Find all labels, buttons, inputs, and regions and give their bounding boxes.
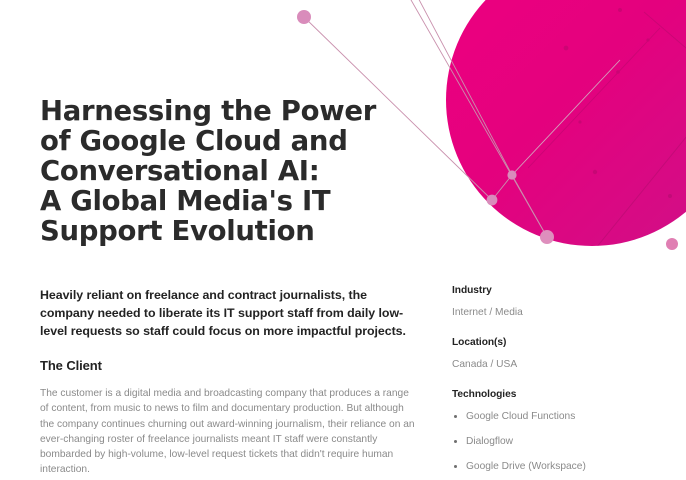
page-title: Harnessing the Power of Google Cloud and…: [40, 96, 440, 246]
node-dot-bottom: [540, 230, 554, 244]
meta-block-locations: Location(s) Canada / USA: [452, 336, 686, 372]
technologies-label: Technologies: [452, 388, 686, 401]
list-item: Dialogflow: [452, 435, 686, 448]
industry-label: Industry: [452, 284, 686, 297]
main-column: Heavily reliant on freelance and contrac…: [0, 272, 418, 478]
lede-paragraph: Heavily reliant on freelance and contrac…: [40, 286, 418, 340]
technology-label: Google Drive (Workspace): [466, 461, 586, 472]
bullet-icon: [454, 440, 457, 443]
node-dot-top-left: [297, 10, 311, 24]
locations-label: Location(s): [452, 336, 686, 349]
technology-label: Google Cloud Functions: [466, 411, 575, 422]
hero-banner: Harnessing the Power of Google Cloud and…: [0, 0, 686, 272]
bullet-icon: [454, 415, 457, 418]
meta-block-industry: Industry Internet / Media: [452, 284, 686, 320]
locations-value: Canada / USA: [452, 358, 686, 372]
list-item: Google Cloud Functions: [452, 410, 686, 423]
content-area: Heavily reliant on freelance and contrac…: [0, 272, 686, 480]
meta-block-technologies: Technologies Google Cloud Functions Dial…: [452, 388, 686, 473]
list-item: Google Drive (Workspace): [452, 460, 686, 473]
node-dot-junction: [507, 170, 516, 179]
technology-label: Dialogflow: [466, 436, 513, 447]
node-dot-mid-left: [487, 195, 498, 206]
technologies-list: Google Cloud Functions Dialogflow Google…: [452, 410, 686, 473]
bullet-icon: [454, 465, 457, 468]
industry-value: Internet / Media: [452, 306, 686, 320]
sidebar-meta-column: Industry Internet / Media Location(s) Ca…: [418, 272, 686, 473]
section-heading-the-client: The Client: [40, 357, 418, 374]
client-body-paragraph: The customer is a digital media and broa…: [40, 386, 418, 478]
node-dot-bottom-right: [666, 238, 678, 250]
